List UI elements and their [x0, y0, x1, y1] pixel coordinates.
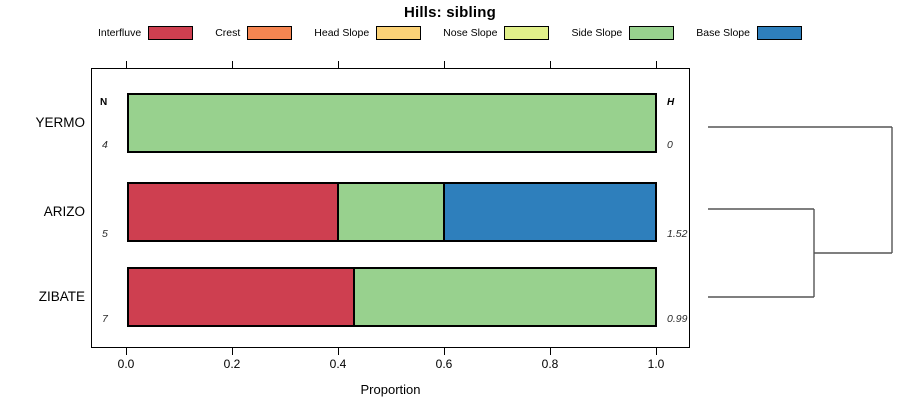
- chart-title: Hills: sibling: [0, 4, 900, 21]
- x-tick-label-3: 0.6: [436, 357, 453, 371]
- h-value-yermo: 0: [667, 139, 673, 151]
- x-tick-label-0: 0.0: [118, 357, 135, 371]
- y-axis-label-zibate: ZIBATE: [1, 289, 85, 304]
- n-value-arizo: 5: [102, 228, 108, 240]
- bar-segment-side-slope[interactable]: [129, 95, 655, 151]
- x-tick-top-2: [338, 61, 339, 68]
- legend-swatch-base-slope: [757, 26, 802, 40]
- x-tick-1: [232, 348, 233, 355]
- stacked-bar-zibate[interactable]: [127, 267, 657, 327]
- stacked-bar-arizo[interactable]: [127, 182, 657, 242]
- bar-segment-interfluve[interactable]: [129, 184, 339, 240]
- legend-item-crest[interactable]: Crest: [215, 26, 292, 40]
- legend-item-head-slope[interactable]: Head Slope: [314, 26, 421, 40]
- legend-label: Side Slope: [571, 27, 622, 39]
- n-column-header: N: [100, 97, 107, 108]
- h-value-zibate: 0.99: [667, 313, 687, 325]
- legend-item-interfluve[interactable]: Interfluve: [98, 26, 193, 40]
- x-tick-label-5: 1.0: [648, 357, 665, 371]
- y-axis-label-yermo: YERMO: [1, 115, 85, 130]
- h-column-header: H: [667, 97, 674, 108]
- x-tick-3: [444, 348, 445, 355]
- x-axis-title: Proportion: [91, 382, 690, 397]
- legend-label: Base Slope: [696, 27, 750, 39]
- x-tick-top-1: [232, 61, 233, 68]
- legend-label: Interfluve: [98, 27, 141, 39]
- x-tick-label-1: 0.2: [224, 357, 241, 371]
- bar-segment-interfluve[interactable]: [129, 269, 355, 325]
- x-tick-0: [126, 348, 127, 355]
- dendrogram-svg: [700, 68, 900, 348]
- n-value-zibate: 7: [102, 313, 108, 325]
- legend-swatch-interfluve: [148, 26, 193, 40]
- bar-segment-base-slope[interactable]: [445, 184, 655, 240]
- x-tick-top-4: [550, 61, 551, 68]
- h-value-arizo: 1.52: [667, 228, 687, 240]
- y-axis-labels: YERMO ARIZO ZIBATE: [0, 68, 85, 348]
- x-tick-label-2: 0.4: [330, 357, 347, 371]
- bar-segment-side-slope[interactable]: [355, 269, 655, 325]
- x-tick-top-0: [126, 61, 127, 68]
- legend-swatch-nose-slope: [504, 26, 549, 40]
- x-tick-top-5: [656, 61, 657, 68]
- legend-swatch-head-slope: [376, 26, 421, 40]
- x-tick-4: [550, 348, 551, 355]
- legend-item-base-slope[interactable]: Base Slope: [696, 26, 802, 40]
- dendrogram: [700, 68, 900, 348]
- legend-label: Nose Slope: [443, 27, 497, 39]
- legend-swatch-crest: [247, 26, 292, 40]
- y-axis-label-arizo: ARIZO: [1, 204, 85, 219]
- stacked-bar-yermo[interactable]: [127, 93, 657, 153]
- legend-label: Crest: [215, 27, 240, 39]
- legend-swatch-side-slope: [629, 26, 674, 40]
- legend-item-side-slope[interactable]: Side Slope: [571, 26, 674, 40]
- plot-panel: N 4 5 7 H 0 1.52 0.99: [91, 68, 690, 348]
- x-tick-2: [338, 348, 339, 355]
- legend-label: Head Slope: [314, 27, 369, 39]
- x-tick-5: [656, 348, 657, 355]
- n-value-yermo: 4: [102, 139, 108, 151]
- x-tick-label-4: 0.8: [542, 357, 559, 371]
- x-tick-top-3: [444, 61, 445, 68]
- legend: Interfluve Crest Head Slope Nose Slope S…: [0, 26, 900, 40]
- bar-segment-side-slope[interactable]: [339, 184, 444, 240]
- legend-item-nose-slope[interactable]: Nose Slope: [443, 26, 549, 40]
